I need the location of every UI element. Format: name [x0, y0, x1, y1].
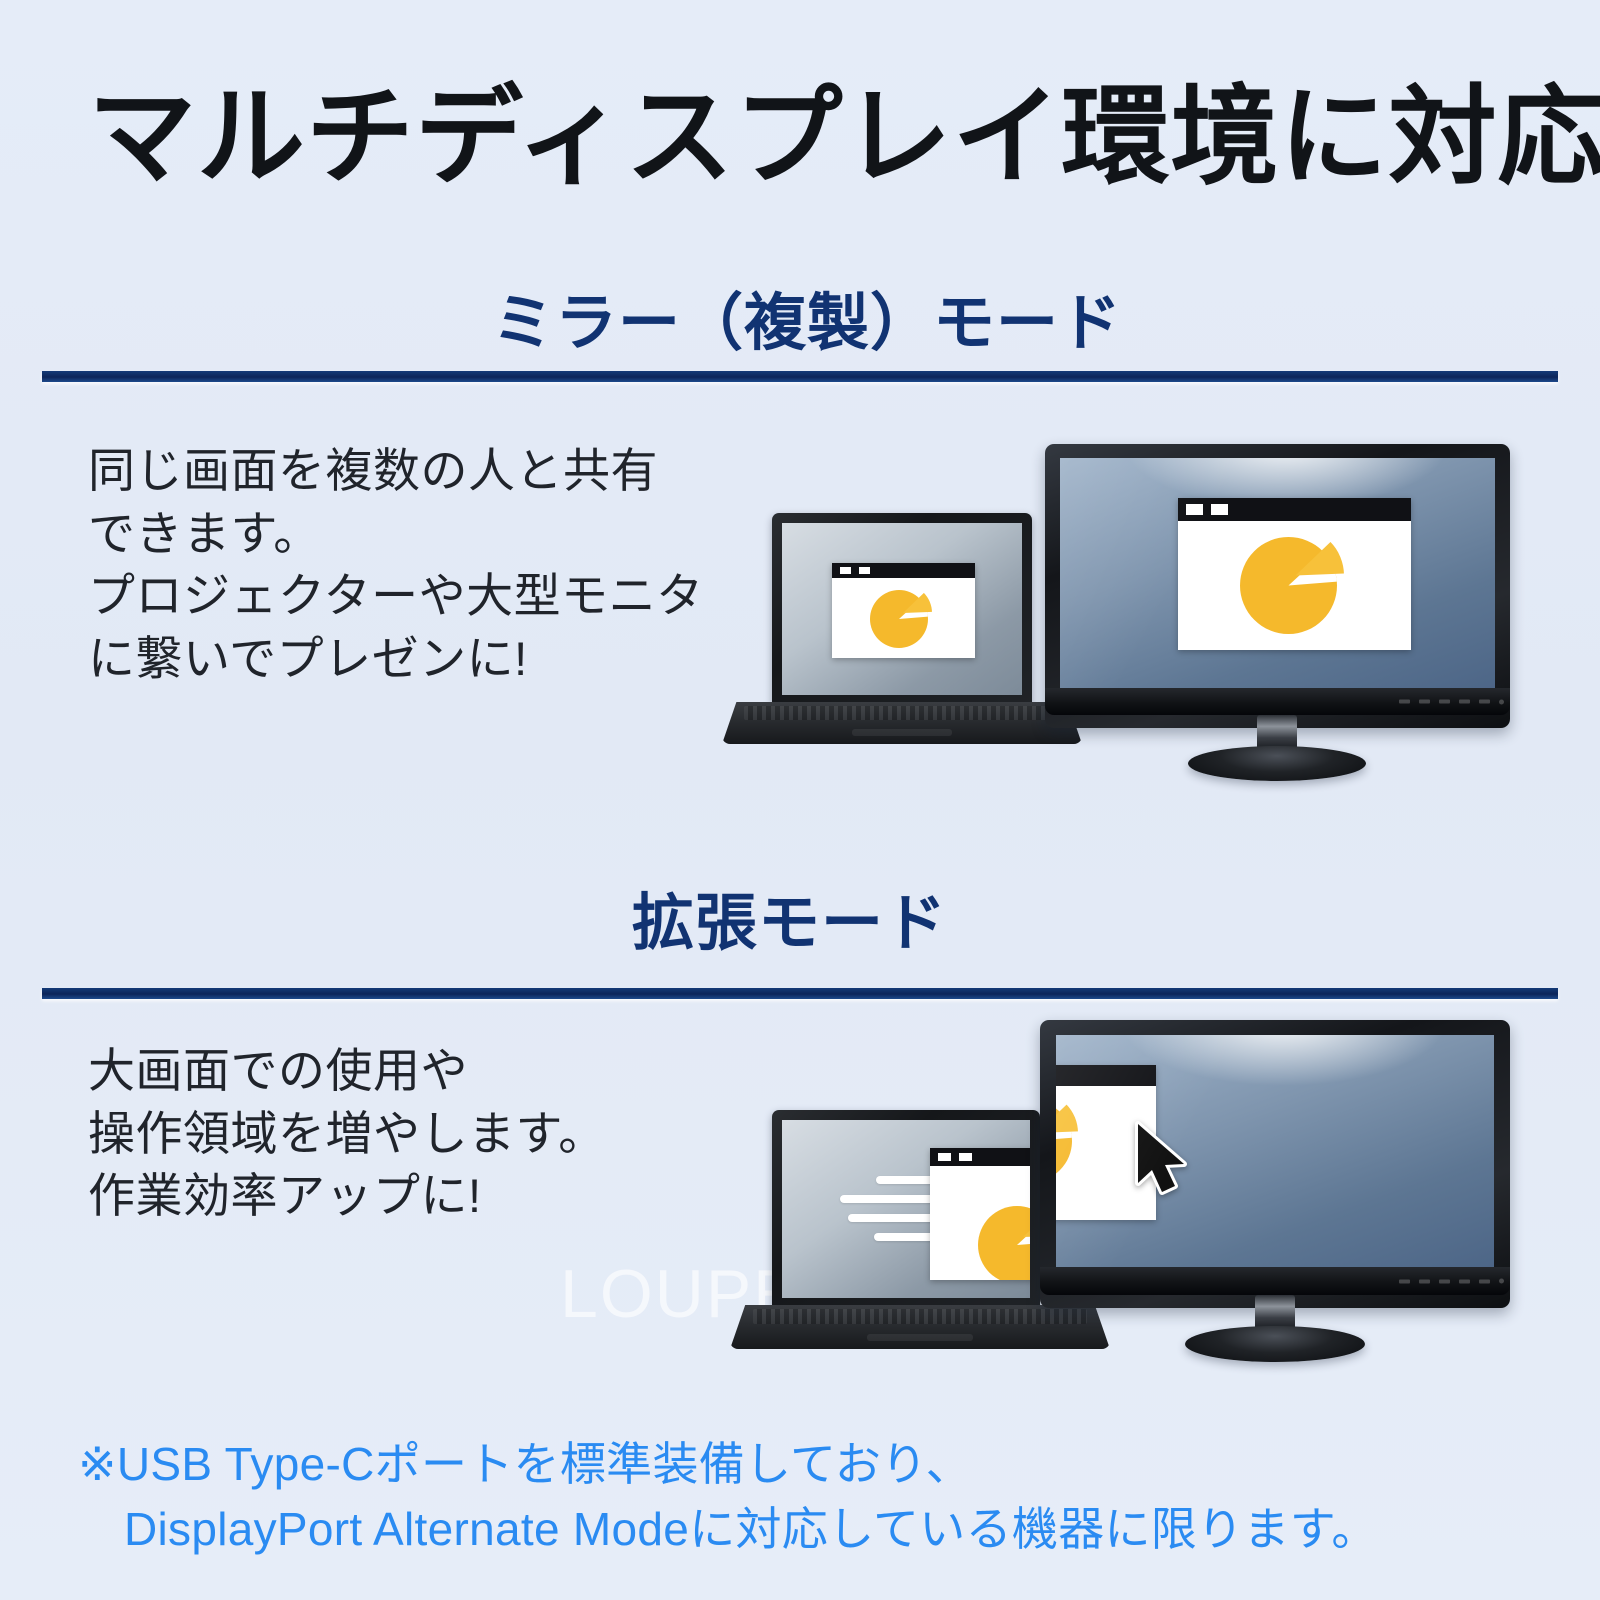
mirror-copy-line-3: プロジェクターや大型モニタ — [88, 565, 704, 628]
extend-copy-line-3: 作業効率アップに! — [88, 1165, 606, 1228]
window-control-2 — [959, 1153, 972, 1161]
pie-chart-icon — [870, 590, 928, 648]
mouse-cursor-icon[interactable] — [1132, 1121, 1194, 1197]
mirror-mode-illustration — [690, 430, 1540, 790]
monitor-control-buttons[interactable] — [1399, 1279, 1504, 1284]
pie-chart-icon — [978, 1206, 1030, 1280]
mirror-copy-line-1: 同じ画面を複数の人と共有 — [88, 440, 704, 503]
extend-mode-illustration — [740, 1020, 1540, 1380]
window-control-1 — [840, 567, 851, 574]
divider-extend — [42, 988, 1558, 999]
app-window — [832, 563, 975, 658]
extend-mode-heading: 拡張モード — [632, 872, 947, 962]
footnote: ※USB Type-Cポートを標準装備しており、 DisplayPort Alt… — [78, 1432, 1378, 1563]
extend-mode-description: 大画面での使用や 操作領域を増やします。 作業効率アップに! — [88, 1040, 606, 1228]
window-control-2 — [1211, 504, 1228, 515]
mirror-copy-line-2: できます。 — [88, 503, 704, 566]
extend-copy-line-2: 操作領域を増やします。 — [88, 1103, 606, 1166]
infographic-page: マルチディスプレイ環境に対応 ミラー（複製）モード 同じ画面を複数の人と共有 で… — [0, 0, 1600, 1600]
window-content — [1178, 521, 1411, 650]
divider-mirror — [42, 371, 1558, 382]
window-content — [832, 578, 975, 658]
pie-chart-icon — [1056, 1100, 1072, 1182]
mirror-mode-description: 同じ画面を複数の人と共有 できます。 プロジェクターや大型モニタ に繋いでプレゼ… — [88, 440, 704, 690]
footnote-line-1: ※USB Type-Cポートを標準装備しており、 — [78, 1438, 972, 1490]
window-title-bar — [1178, 498, 1411, 521]
app-window — [1178, 498, 1411, 650]
app-window-dragged[interactable] — [1056, 1065, 1156, 1220]
mirror-mode-heading: ミラー（複製）モード — [492, 272, 1122, 362]
window-control-1 — [1186, 504, 1203, 515]
window-content — [930, 1166, 1030, 1280]
monitor-control-buttons[interactable] — [1399, 699, 1504, 704]
app-window[interactable] — [930, 1148, 1030, 1280]
window-control-2 — [859, 567, 870, 574]
window-title-bar — [832, 563, 975, 578]
mirror-copy-line-4: に繋いでプレゼンに! — [88, 628, 704, 691]
window-control-1 — [938, 1153, 951, 1161]
extend-copy-line-1: 大画面での使用や — [88, 1040, 606, 1103]
window-title-bar[interactable] — [930, 1148, 1030, 1166]
window-content — [1056, 1086, 1156, 1220]
page-title: マルチディスプレイ環境に対応 — [88, 78, 1600, 197]
window-title-bar[interactable] — [1056, 1065, 1156, 1086]
pie-chart-icon — [1240, 537, 1337, 634]
footnote-line-2: DisplayPort Alternate Modeに対応している機器に限ります… — [78, 1497, 1378, 1562]
